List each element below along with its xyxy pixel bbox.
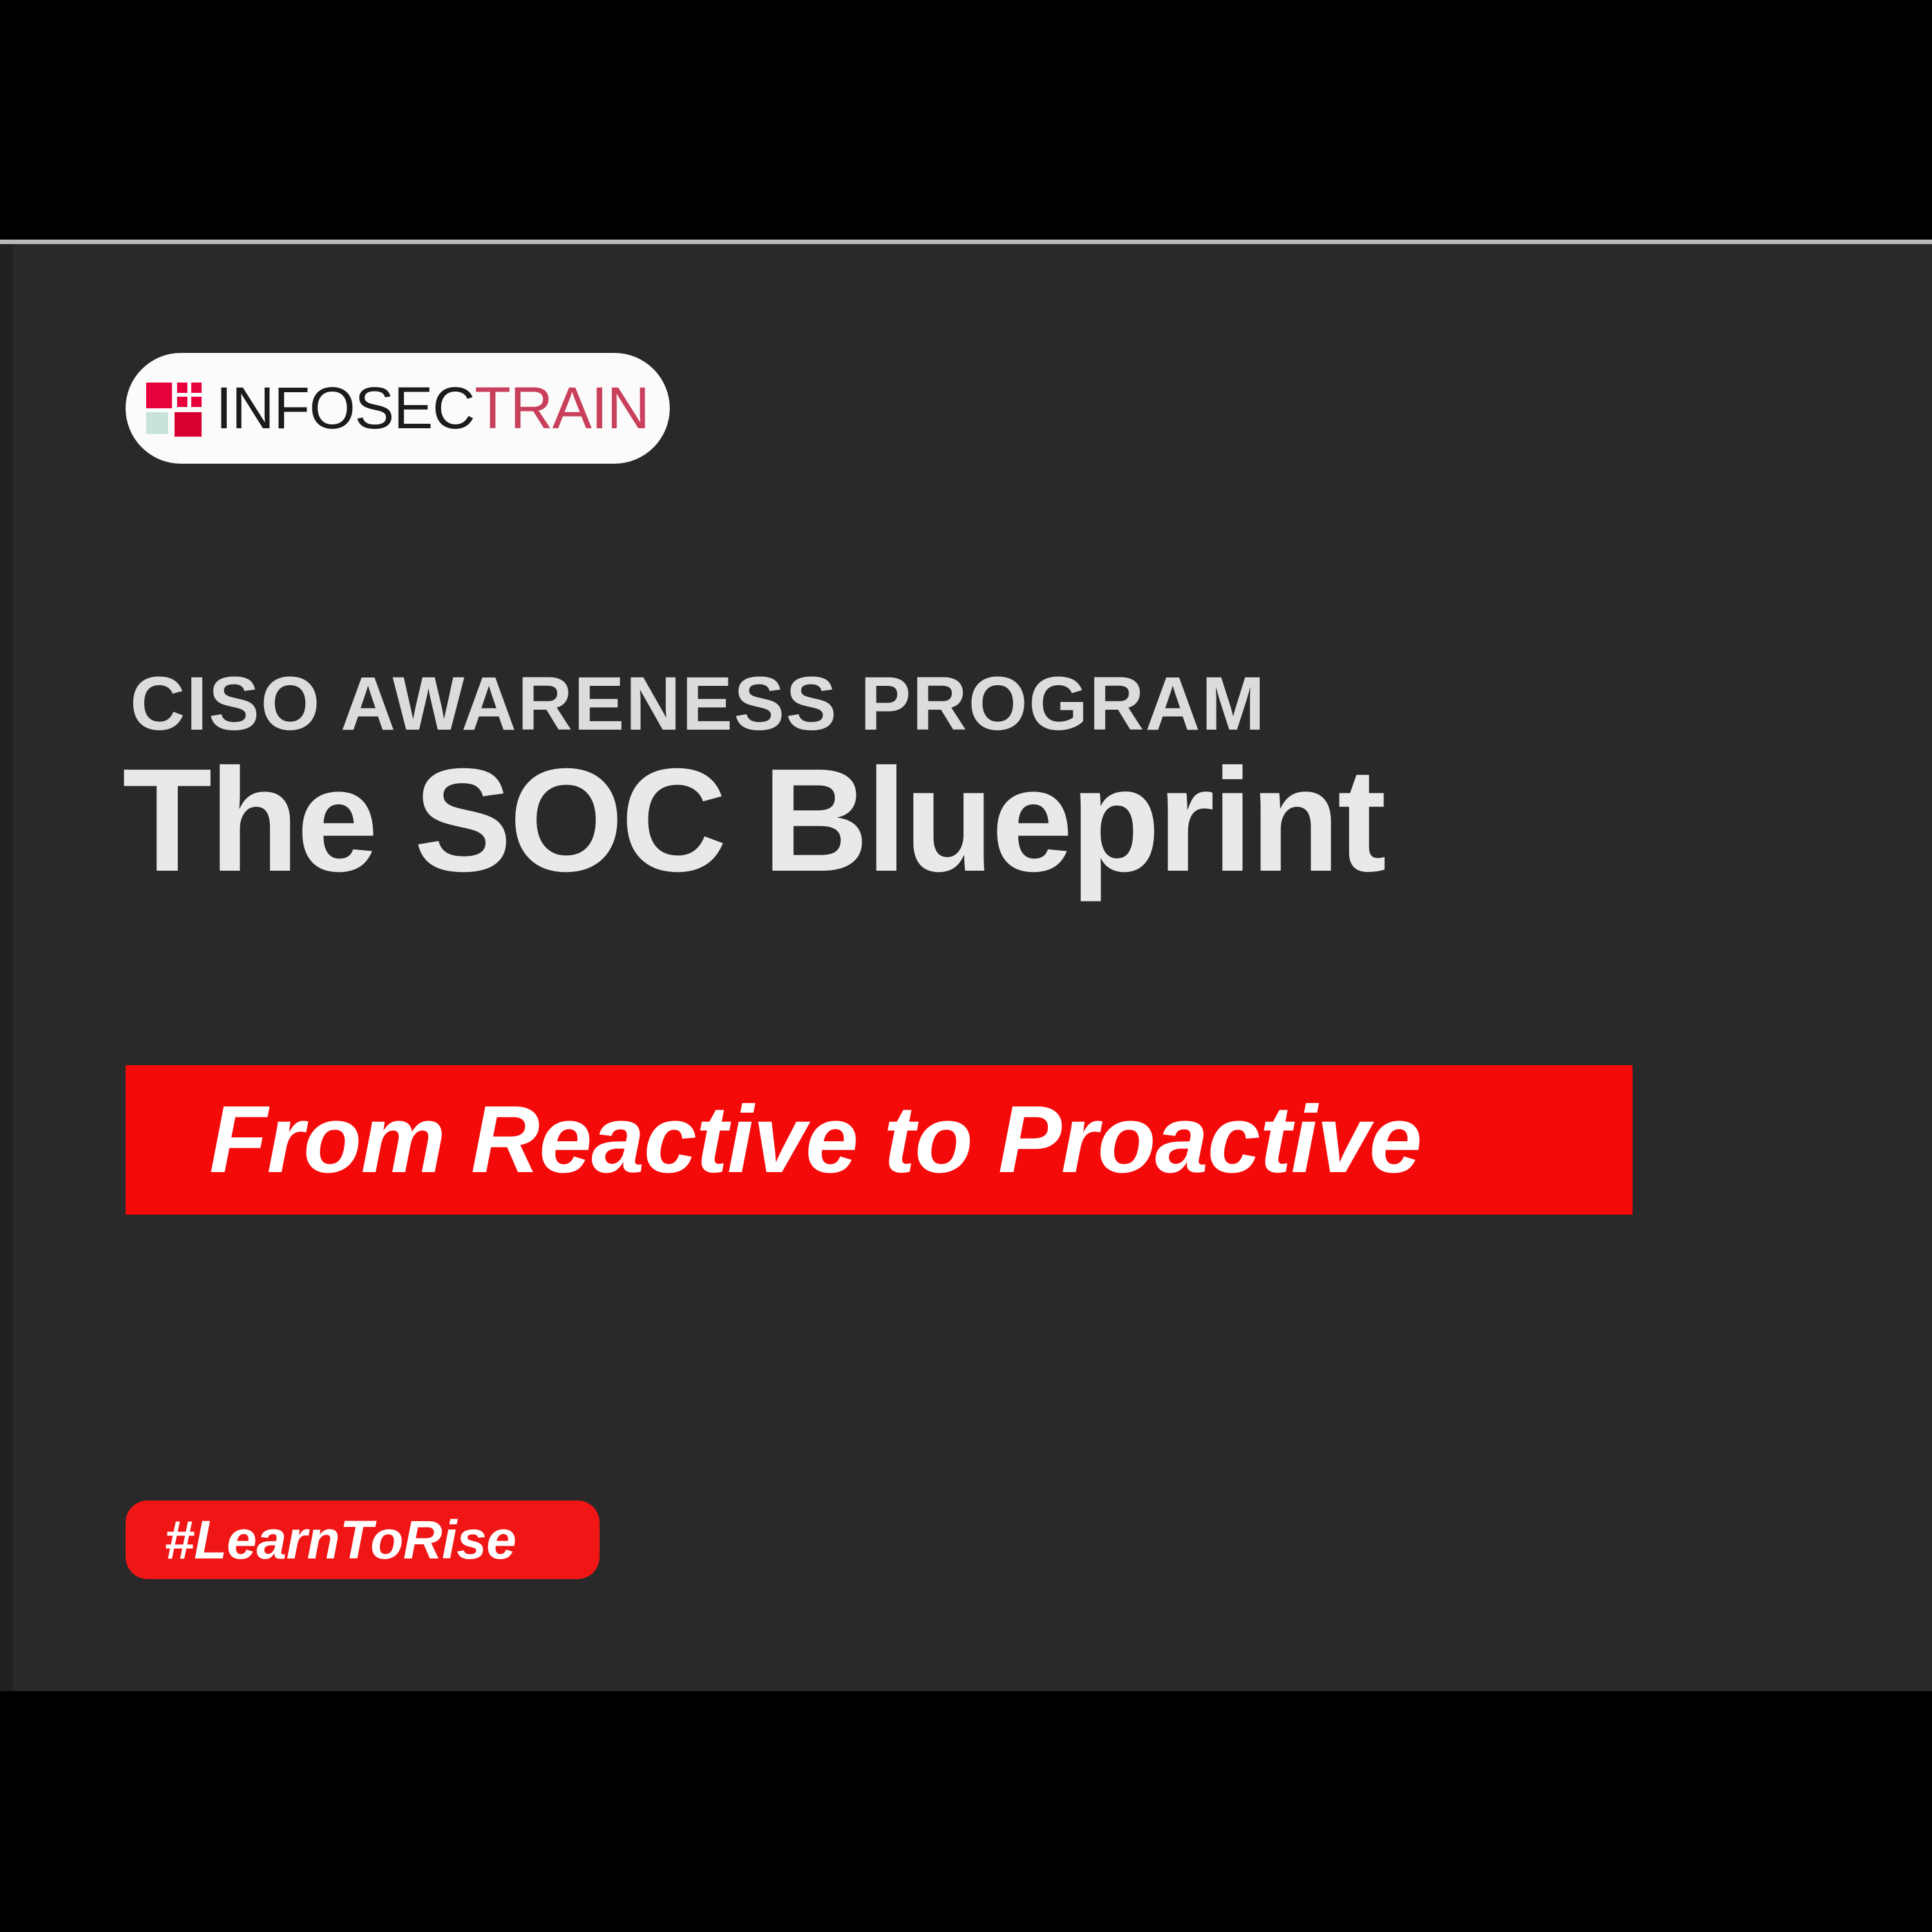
subtitle-text: From Reactive to Proactive [126, 1092, 1421, 1188]
logo-wordmark: INFOSECTRAIN [216, 379, 649, 438]
logo-word-infosec: INFOSEC [216, 375, 475, 441]
infosectrain-grid-mark-icon [146, 380, 202, 437]
program-eyebrow: CISO AWARENESS PROGRAM [130, 666, 1266, 742]
infosectrain-logo-badge: INFOSECTRAIN [126, 353, 670, 464]
subtitle-banner: From Reactive to Proactive [126, 1065, 1633, 1215]
frame-left-edge [0, 244, 13, 1691]
slide-title: The SOC Blueprint [122, 741, 1384, 900]
video-player-frame: INFOSECTRAIN CISO AWARENESS PROGRAM The … [0, 0, 1932, 1932]
player-progress-bar[interactable] [0, 240, 1932, 244]
logo-word-train: TRAIN [475, 375, 649, 441]
slide-canvas: INFOSECTRAIN CISO AWARENESS PROGRAM The … [0, 244, 1932, 1691]
letterbox-top [0, 0, 1932, 240]
speaker-block: B 10+ Yea [1784, 1365, 1932, 1502]
hashtag-text: #LearnToRise [126, 1513, 516, 1567]
hashtag-badge: #LearnToRise [126, 1501, 600, 1579]
speaker-credential: 10+ Yea [1784, 1443, 1932, 1502]
letterbox-bottom [0, 1691, 1932, 1932]
logo-inner: INFOSECTRAIN [146, 379, 649, 438]
speaker-name: B [1784, 1365, 1932, 1432]
